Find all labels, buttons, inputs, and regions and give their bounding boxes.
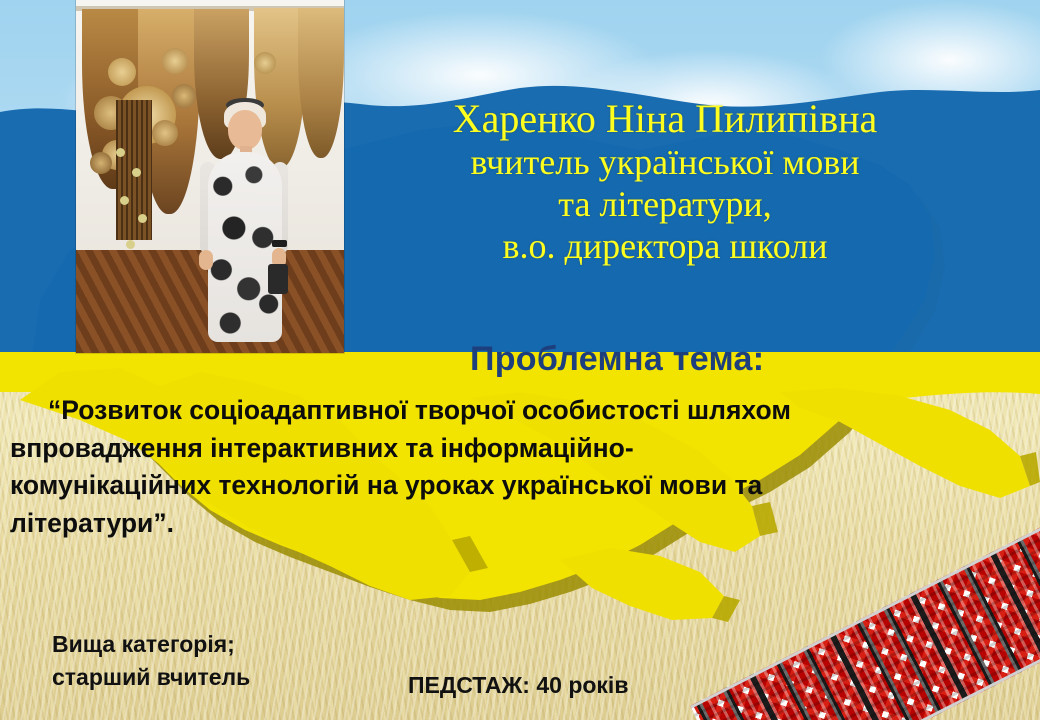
teaching-experience: ПЕДСТАЖ: 40 років xyxy=(408,672,828,699)
decor-disc xyxy=(172,84,196,108)
theme-line: впровадження інтерактивних та інформацій… xyxy=(10,430,1010,468)
theme-line: “Розвиток соціоадаптивної творчої особис… xyxy=(10,392,1010,430)
slide-canvas: Харенко Ніна Пилипівна вчитель українськ… xyxy=(0,0,1040,720)
decor-bead xyxy=(126,240,135,249)
decor-disc xyxy=(152,120,178,146)
theme-line: літератури”. xyxy=(10,505,1010,543)
person-clutch-bag xyxy=(268,264,288,294)
photo-person xyxy=(194,88,290,353)
problem-theme-label: Проблемна тема: xyxy=(470,340,890,379)
decor-disc xyxy=(254,52,276,74)
decor-bead xyxy=(116,148,125,157)
person-dress xyxy=(208,152,282,342)
decor-bead xyxy=(132,168,141,177)
theme-line: комунікаційних технологій на уроках укра… xyxy=(10,467,1010,505)
person-head xyxy=(228,110,262,150)
person-hand-left xyxy=(199,250,213,270)
decor-disc xyxy=(162,48,188,74)
decor-disc xyxy=(108,58,136,86)
portrait-photo-icon xyxy=(76,0,344,353)
teacher-role-line-1: вчитель української мови xyxy=(380,142,950,184)
teacher-role-line-2: та літератури, xyxy=(380,184,950,226)
category-line: Вища категорія; xyxy=(52,628,382,661)
category-line: старший вчитель xyxy=(52,661,382,694)
decor-disc xyxy=(90,152,112,174)
teacher-role-line-3: в.о. директора школи xyxy=(380,226,950,268)
person-watch xyxy=(272,240,287,247)
decor-bead xyxy=(120,196,129,205)
qualification-category: Вища категорія; старший вчитель xyxy=(52,628,382,695)
title-block: Харенко Ніна Пилипівна вчитель українськ… xyxy=(380,96,950,268)
problem-theme-text: “Розвиток соціоадаптивної творчої особис… xyxy=(10,392,1010,543)
decor-bead xyxy=(138,214,147,223)
teacher-name: Харенко Ніна Пилипівна xyxy=(380,96,950,142)
